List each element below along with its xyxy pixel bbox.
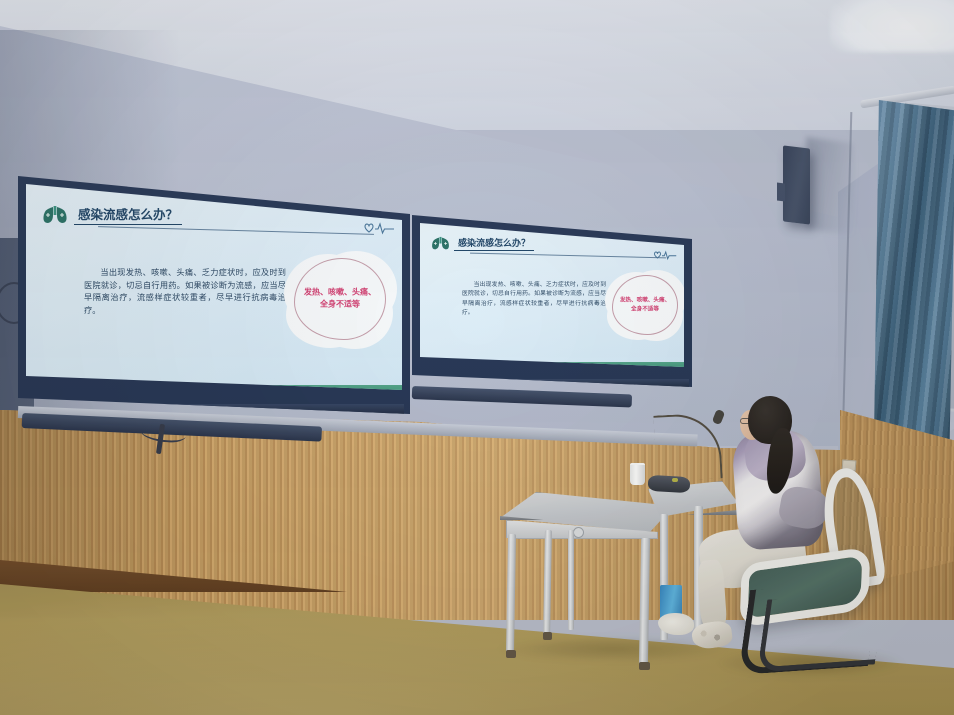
annotation-toolbar[interactable] (26, 385, 402, 398)
slide-body-text: 当出现发热、咳嗽、头痛、乏力症状时，应及时到医院就诊，切忌自行用药。如果被诊断为… (84, 266, 286, 317)
right-display-slide-area: 感染流感怎么办？ 当出现发热、咳嗽、头痛、乏力症状时，应及时到医院就诊，切忌自行… (420, 223, 684, 371)
desk-leg-3 (568, 530, 574, 630)
slide-left: 感染流感怎么办？ 当出现发热、咳嗽、头痛、乏力症状时，应及时到医院就诊，切忌自行… (26, 184, 402, 398)
paper-cup[interactable] (630, 463, 645, 485)
white-bag[interactable] (658, 613, 694, 635)
microphone-led-icon (672, 478, 678, 482)
slide-title-rule-2 (470, 253, 666, 259)
left-display[interactable]: 感染流感怎么办？ 当出现发热、咳嗽、头痛、乏力症状时，应及时到医院就诊，切忌自行… (18, 176, 410, 414)
slide-header: 感染流感怎么办？ (42, 204, 182, 225)
record-icon[interactable] (435, 364, 441, 370)
menu-icon[interactable] (426, 366, 431, 368)
slide-body-text: 当出现发热、咳嗽、头痛、乏力症状时，应及时到医院就诊，切忌自行用药。如果被诊断为… (462, 281, 606, 318)
record-icon[interactable] (42, 388, 50, 396)
desk-lock-icon (573, 527, 584, 538)
undo-icon[interactable] (77, 388, 85, 396)
heart-ecg-icon (362, 220, 396, 236)
speaker-shadow (806, 137, 854, 235)
speaker-bracket (777, 183, 785, 202)
pen-icon[interactable] (445, 364, 451, 370)
eraser-icon[interactable] (455, 366, 461, 368)
photo-scene: 感染流感怎么办？ 当出现发热、咳嗽、头痛、乏力症状时，应及时到医院就诊，切忌自行… (0, 0, 954, 715)
lungs-icon (431, 236, 450, 251)
heart-ecg-icon (652, 249, 678, 261)
cloud-line-2: 全身不适等 (612, 305, 678, 314)
desk-leg-2 (543, 530, 552, 636)
annotation-toolbar[interactable] (420, 362, 684, 371)
cloud-text-block: 发热、咳嗽、头痛、 全身不适等 (612, 296, 678, 313)
wall-speaker-icon (783, 145, 810, 224)
cloud-line-1: 发热、咳嗽、头痛、 (294, 287, 386, 299)
ceiling-light (830, 0, 954, 52)
slide-title: 感染流感怎么办？ (74, 204, 182, 225)
eraser-icon[interactable] (66, 391, 73, 393)
redo-icon[interactable] (89, 388, 97, 396)
slide-right: 感染流感怎么办？ 当出现发热、咳嗽、头痛、乏力症状时，应及时到医院就诊，切忌自行… (420, 223, 684, 371)
right-display[interactable]: 感染流感怎么办？ 当出现发热、咳嗽、头痛、乏力症状时，应及时到医院就诊，切忌自行… (412, 215, 692, 387)
pen-icon[interactable] (54, 388, 62, 396)
symptom-cloud-callout: 发热、咳嗽、头痛、 全身不适等 (294, 258, 386, 340)
slide-header-2: 感染流感怎么办？ (431, 236, 534, 251)
cloud-line-2: 全身不适等 (294, 299, 386, 311)
slide-title: 感染流感怎么办？ (454, 236, 534, 251)
desk-foot-2 (543, 632, 552, 640)
menu-icon[interactable] (32, 391, 38, 393)
slide-title-rule (98, 226, 374, 235)
cloud-line-1: 发热、咳嗽、头痛、 (612, 296, 678, 305)
microphone-base[interactable] (648, 475, 691, 493)
curtain-shading (874, 100, 954, 452)
desk-foot-4 (639, 662, 650, 670)
symptom-cloud-callout: 发热、咳嗽、头痛、 全身不适等 (612, 275, 678, 335)
chair-frame-inner (757, 591, 885, 672)
left-display-slide-area: 感染流感怎么办？ 当出现发热、咳嗽、头痛、乏力症状时，应及时到医院就诊，切忌自行… (26, 184, 402, 398)
cloud-text-block: 发热、咳嗽、头痛、 全身不适等 (294, 287, 386, 312)
desk-foot-1 (506, 650, 516, 658)
lungs-icon (42, 205, 68, 225)
